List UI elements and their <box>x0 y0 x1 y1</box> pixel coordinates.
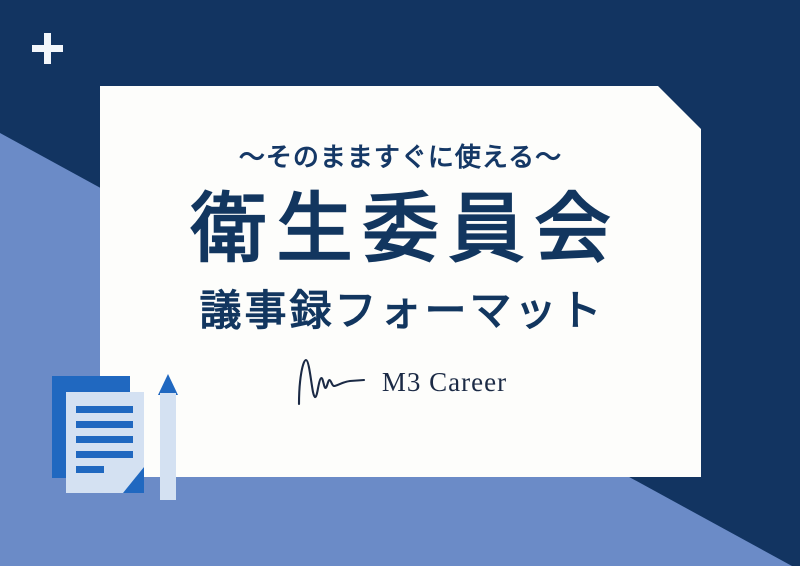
document-text-line <box>76 466 104 473</box>
document-illustration <box>48 372 198 500</box>
pencil-icon <box>158 374 178 500</box>
eyebrow-text: 〜そのまますぐに使える〜 <box>239 144 562 170</box>
document-text-line <box>76 436 133 443</box>
document-text-line <box>76 406 133 413</box>
plus-mark-icon <box>32 33 63 64</box>
pulse-waveform-icon <box>294 358 366 406</box>
brand-logo: M3 Career <box>294 358 507 406</box>
pencil-body-icon <box>160 393 176 500</box>
pencil-tip-icon <box>158 374 178 395</box>
slide-canvas: 〜そのまますぐに使える〜 衛生委員会 議事録フォーマット M3 Career <box>0 0 800 566</box>
page-title: 衛生委員会 <box>181 192 621 268</box>
document-front-sheet-icon <box>66 392 144 493</box>
brand-logo-text: M3 Career <box>382 369 507 396</box>
document-text-line <box>76 451 133 458</box>
page-subtitle: 議事録フォーマット <box>196 290 604 332</box>
document-text-line <box>76 421 133 428</box>
